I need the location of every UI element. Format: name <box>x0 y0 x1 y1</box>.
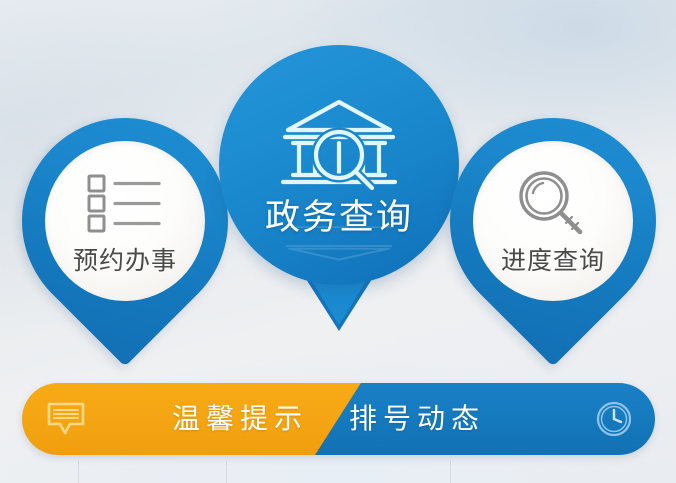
pin-inner-right: 进度查询 <box>473 141 633 301</box>
pin-progress-query[interactable]: 进度查询 <box>450 118 656 368</box>
magnifier-icon <box>516 168 590 240</box>
speech-bubble-icon <box>46 401 86 437</box>
panel-divider-3 <box>450 461 451 483</box>
pin-label-government-affairs-query: 政务查询 <box>265 201 413 236</box>
tips-button[interactable]: 温馨提示 <box>22 383 362 455</box>
checklist-icon <box>87 168 163 240</box>
kiosk-home-screen: 预约办事 <box>0 0 676 483</box>
pin-label-appointment: 预约办事 <box>73 248 177 273</box>
pin-inner-left: 预约办事 <box>45 141 205 301</box>
panel-divider-2 <box>226 461 227 483</box>
pin-government-affairs-query[interactable]: 政务查询 <box>219 45 459 330</box>
queue-status-button[interactable]: 排号动态 <box>315 383 655 455</box>
pin-inner-center: 政务查询 <box>219 45 459 285</box>
bottom-action-bar: 温馨提示 排号动态 <box>22 383 655 455</box>
bank-search-icon <box>279 95 399 195</box>
pin-shape-right: 进度查询 <box>450 118 656 368</box>
tips-label: 温馨提示 <box>172 405 308 433</box>
pin-label-progress-query: 进度查询 <box>501 248 605 273</box>
queue-status-label: 排号动态 <box>349 405 485 433</box>
clock-icon <box>595 400 633 438</box>
pin-shape-left: 预约办事 <box>22 118 228 368</box>
panel-divider-1 <box>78 461 79 483</box>
pin-appointment[interactable]: 预约办事 <box>22 118 228 368</box>
